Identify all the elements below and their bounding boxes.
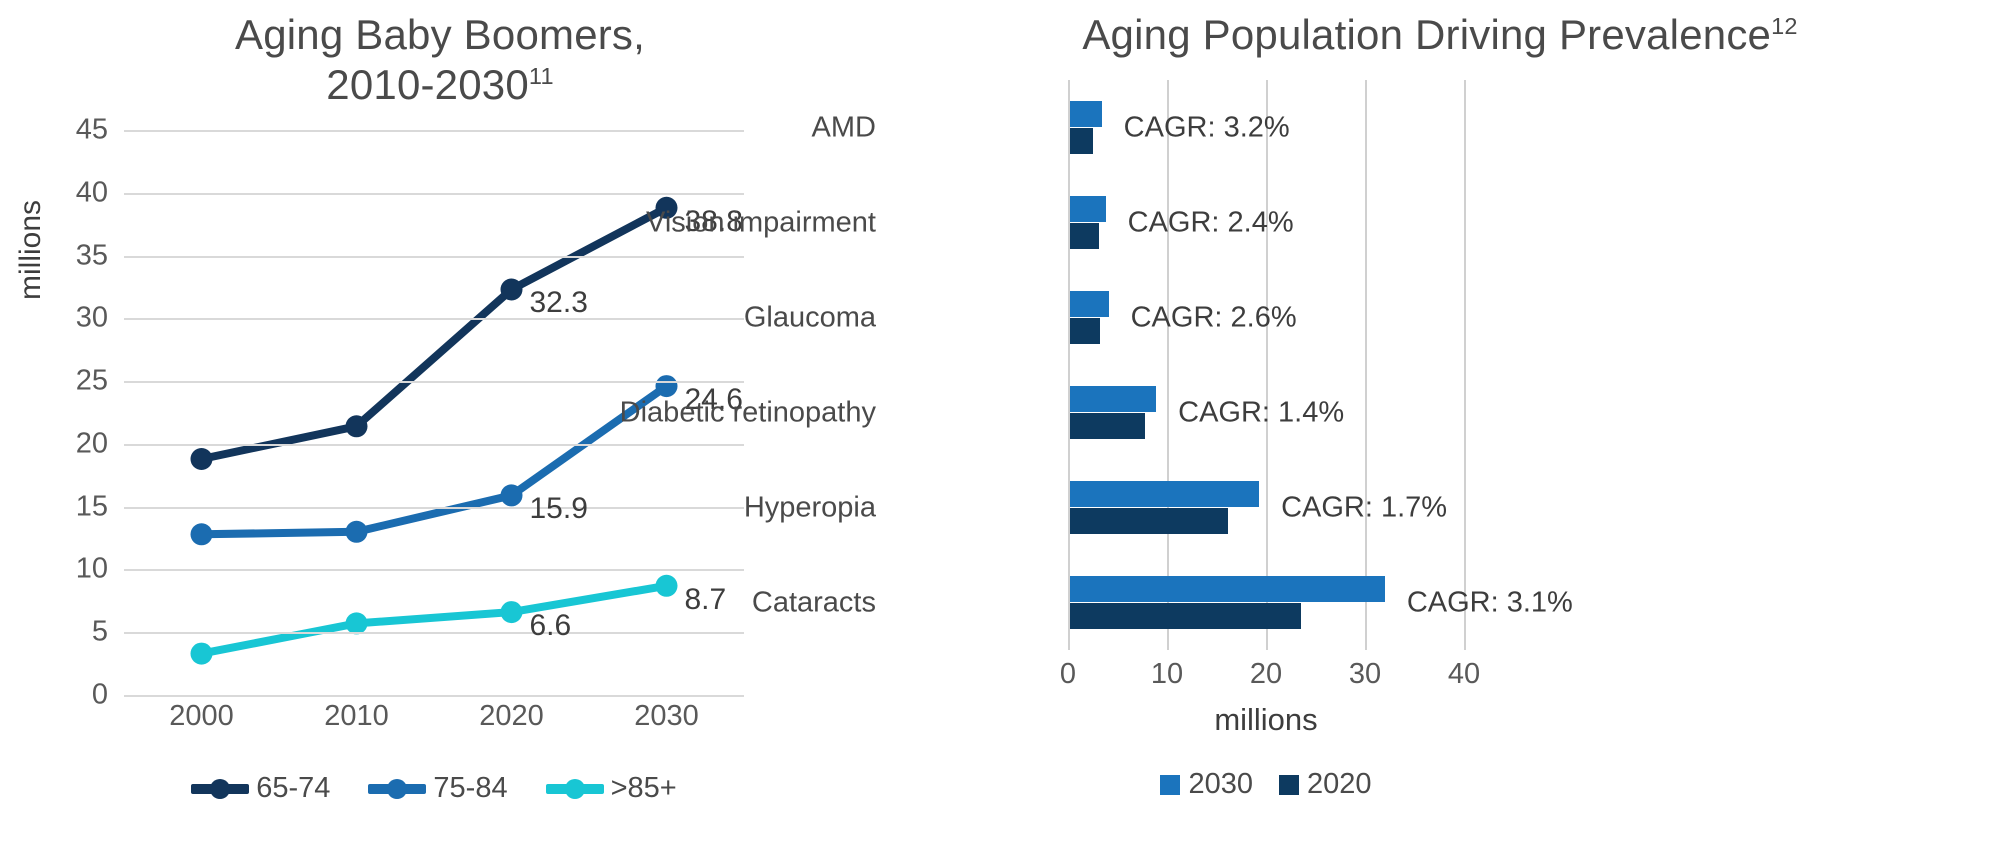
- line-chart-gridline: [124, 193, 744, 195]
- bar-chart-category-label: Cataracts: [752, 586, 876, 619]
- line-chart-data-point[interactable]: [346, 415, 368, 437]
- line-chart-x-tick-label: 2020: [479, 700, 544, 733]
- line-chart-legend: 65-7475-84>85+: [124, 772, 744, 805]
- line-chart-data-point[interactable]: [501, 601, 523, 623]
- line-series-marker-icon: [191, 784, 249, 794]
- bar-chart-bar[interactable]: [1070, 481, 1259, 507]
- line-chart-point-value-label: 6.6: [530, 609, 572, 643]
- bar-chart-bar[interactable]: [1070, 576, 1385, 602]
- line-chart-data-point[interactable]: [346, 612, 368, 634]
- bar-chart-bar[interactable]: [1070, 101, 1102, 127]
- line-chart-data-point[interactable]: [656, 375, 678, 397]
- bar-chart-x-tick-label: 30: [1349, 658, 1381, 691]
- line-chart-title-superscript: 11: [529, 63, 554, 89]
- line-chart-series-line: [202, 586, 667, 654]
- line-chart-y-tick-label: 20: [50, 427, 108, 460]
- line-chart-title: Aging Baby Boomers, 2010-203011: [60, 10, 820, 109]
- line-chart-point-value-label: 8.7: [685, 583, 727, 617]
- line-chart-series-line: [202, 208, 667, 459]
- line-chart-y-tick-label: 30: [50, 302, 108, 335]
- figure-canvas: Aging Baby Boomers, 2010-203011 millions…: [0, 0, 2000, 842]
- line-chart-x-tick-label: 2030: [634, 700, 699, 733]
- line-chart-gridline: [124, 318, 744, 320]
- bar-chart-cagr-annotation: CAGR: 3.1%: [1407, 586, 1573, 619]
- bar-chart-bar[interactable]: [1070, 291, 1109, 317]
- line-chart-title-line1: Aging Baby Boomers,: [235, 11, 645, 58]
- bar-chart-category-label: Vision impairment: [646, 206, 876, 239]
- line-chart-y-tick-label: 0: [50, 679, 108, 712]
- line-series-marker-icon: [368, 784, 426, 794]
- line-chart-series-line: [202, 386, 667, 534]
- bar-chart-gridline: [1068, 80, 1070, 650]
- bar-chart-bar[interactable]: [1070, 196, 1106, 222]
- legend-color-swatch-icon: [1160, 775, 1180, 795]
- line-chart-y-tick-label: 25: [50, 365, 108, 398]
- line-chart-gridline: [124, 256, 744, 258]
- bar-chart-gridline: [1464, 80, 1466, 650]
- bar-chart-cagr-annotation: CAGR: 2.6%: [1131, 301, 1297, 334]
- bar-chart-title-superscript: 12: [1771, 13, 1798, 39]
- line-chart-legend-item[interactable]: >85+: [546, 772, 677, 805]
- bar-chart-bar[interactable]: [1070, 128, 1093, 154]
- line-chart-gridline: [124, 569, 744, 571]
- bar-chart-category-label: Diabetic retinopathy: [620, 396, 876, 429]
- line-chart-gridline: [124, 632, 744, 634]
- bar-chart-legend-item[interactable]: 2020: [1279, 768, 1372, 801]
- bar-chart-aging-population-prevalence: Aging Population Driving Prevalence12 AM…: [880, 0, 2000, 842]
- line-chart-gridline: [124, 444, 744, 446]
- line-chart-title-line2: 2010-2030: [326, 61, 529, 108]
- bar-chart-category-label: Hyperopia: [744, 491, 876, 524]
- bar-chart-x-axis-title: millions: [1068, 702, 1464, 738]
- bar-chart-gridline: [1167, 80, 1169, 650]
- line-chart-y-tick-label: 40: [50, 176, 108, 209]
- bar-chart-x-tick-label: 0: [1060, 658, 1076, 691]
- line-chart-y-tick-label: 5: [50, 616, 108, 649]
- line-chart-x-tick-label: 2000: [169, 700, 234, 733]
- bar-chart-legend-label: 2030: [1188, 768, 1253, 801]
- line-chart-gridline: [124, 695, 744, 697]
- bar-chart-cagr-annotation: CAGR: 1.7%: [1281, 491, 1447, 524]
- bar-chart-plot-area: [1068, 80, 1464, 650]
- bar-chart-cagr-annotation: CAGR: 1.4%: [1178, 396, 1344, 429]
- line-chart-gridline: [124, 507, 744, 509]
- bar-chart-legend: 20302020: [1068, 768, 1464, 801]
- line-chart-x-tick-label: 2010: [324, 700, 389, 733]
- bar-chart-legend-item[interactable]: 2030: [1160, 768, 1253, 801]
- line-chart-data-point[interactable]: [191, 448, 213, 470]
- line-chart-y-tick-label: 35: [50, 239, 108, 272]
- bar-chart-legend-label: 2020: [1307, 768, 1372, 801]
- line-chart-legend-item[interactable]: 75-84: [368, 772, 507, 805]
- line-chart-legend-item[interactable]: 65-74: [191, 772, 330, 805]
- bar-chart-gridline: [1365, 80, 1367, 650]
- bar-chart-x-ticks: 010203040: [1068, 658, 1464, 704]
- bar-chart-bar[interactable]: [1070, 413, 1145, 439]
- line-chart-y-tick-label: 45: [50, 114, 108, 147]
- bar-chart-gridline: [1266, 80, 1268, 650]
- line-chart-y-ticks: 051015202530354045: [40, 0, 108, 842]
- line-chart-gridline: [124, 381, 744, 383]
- bar-chart-title-text: Aging Population Driving Prevalence: [1082, 11, 1771, 58]
- line-chart-data-point[interactable]: [191, 643, 213, 665]
- line-chart-data-point[interactable]: [346, 521, 368, 543]
- legend-color-swatch-icon: [1279, 775, 1299, 795]
- line-chart-data-point[interactable]: [501, 484, 523, 506]
- bar-chart-category-label: Glaucoma: [744, 301, 876, 334]
- line-series-marker-icon: [546, 784, 604, 794]
- line-chart-data-point[interactable]: [191, 523, 213, 545]
- line-chart-data-point[interactable]: [656, 575, 678, 597]
- line-chart-point-value-label: 15.9: [530, 492, 588, 526]
- bar-chart-category-label: AMD: [812, 111, 876, 144]
- bar-chart-x-tick-label: 10: [1151, 658, 1183, 691]
- bar-chart-x-tick-label: 20: [1250, 658, 1282, 691]
- bar-chart-bar[interactable]: [1070, 508, 1228, 534]
- line-chart-point-value-label: 32.3: [530, 286, 588, 320]
- bar-chart-bar[interactable]: [1070, 386, 1156, 412]
- bar-chart-bar[interactable]: [1070, 318, 1100, 344]
- line-chart-y-tick-label: 15: [50, 490, 108, 523]
- line-chart-legend-label: 65-74: [256, 772, 330, 805]
- bar-chart-bar[interactable]: [1070, 603, 1301, 629]
- line-chart-legend-label: >85+: [611, 772, 677, 805]
- line-chart-legend-label: 75-84: [433, 772, 507, 805]
- line-chart-gridline: [124, 130, 744, 132]
- bar-chart-cagr-annotation: CAGR: 2.4%: [1128, 206, 1294, 239]
- bar-chart-title: Aging Population Driving Prevalence12: [880, 10, 2000, 60]
- line-chart-data-point[interactable]: [501, 279, 523, 301]
- bar-chart-cagr-annotation: CAGR: 3.2%: [1124, 111, 1290, 144]
- line-chart-y-tick-label: 10: [50, 553, 108, 586]
- bar-chart-x-tick-label: 40: [1448, 658, 1480, 691]
- line-chart-x-ticks: 2000201020202030: [124, 700, 744, 746]
- bar-chart-bar[interactable]: [1070, 223, 1099, 249]
